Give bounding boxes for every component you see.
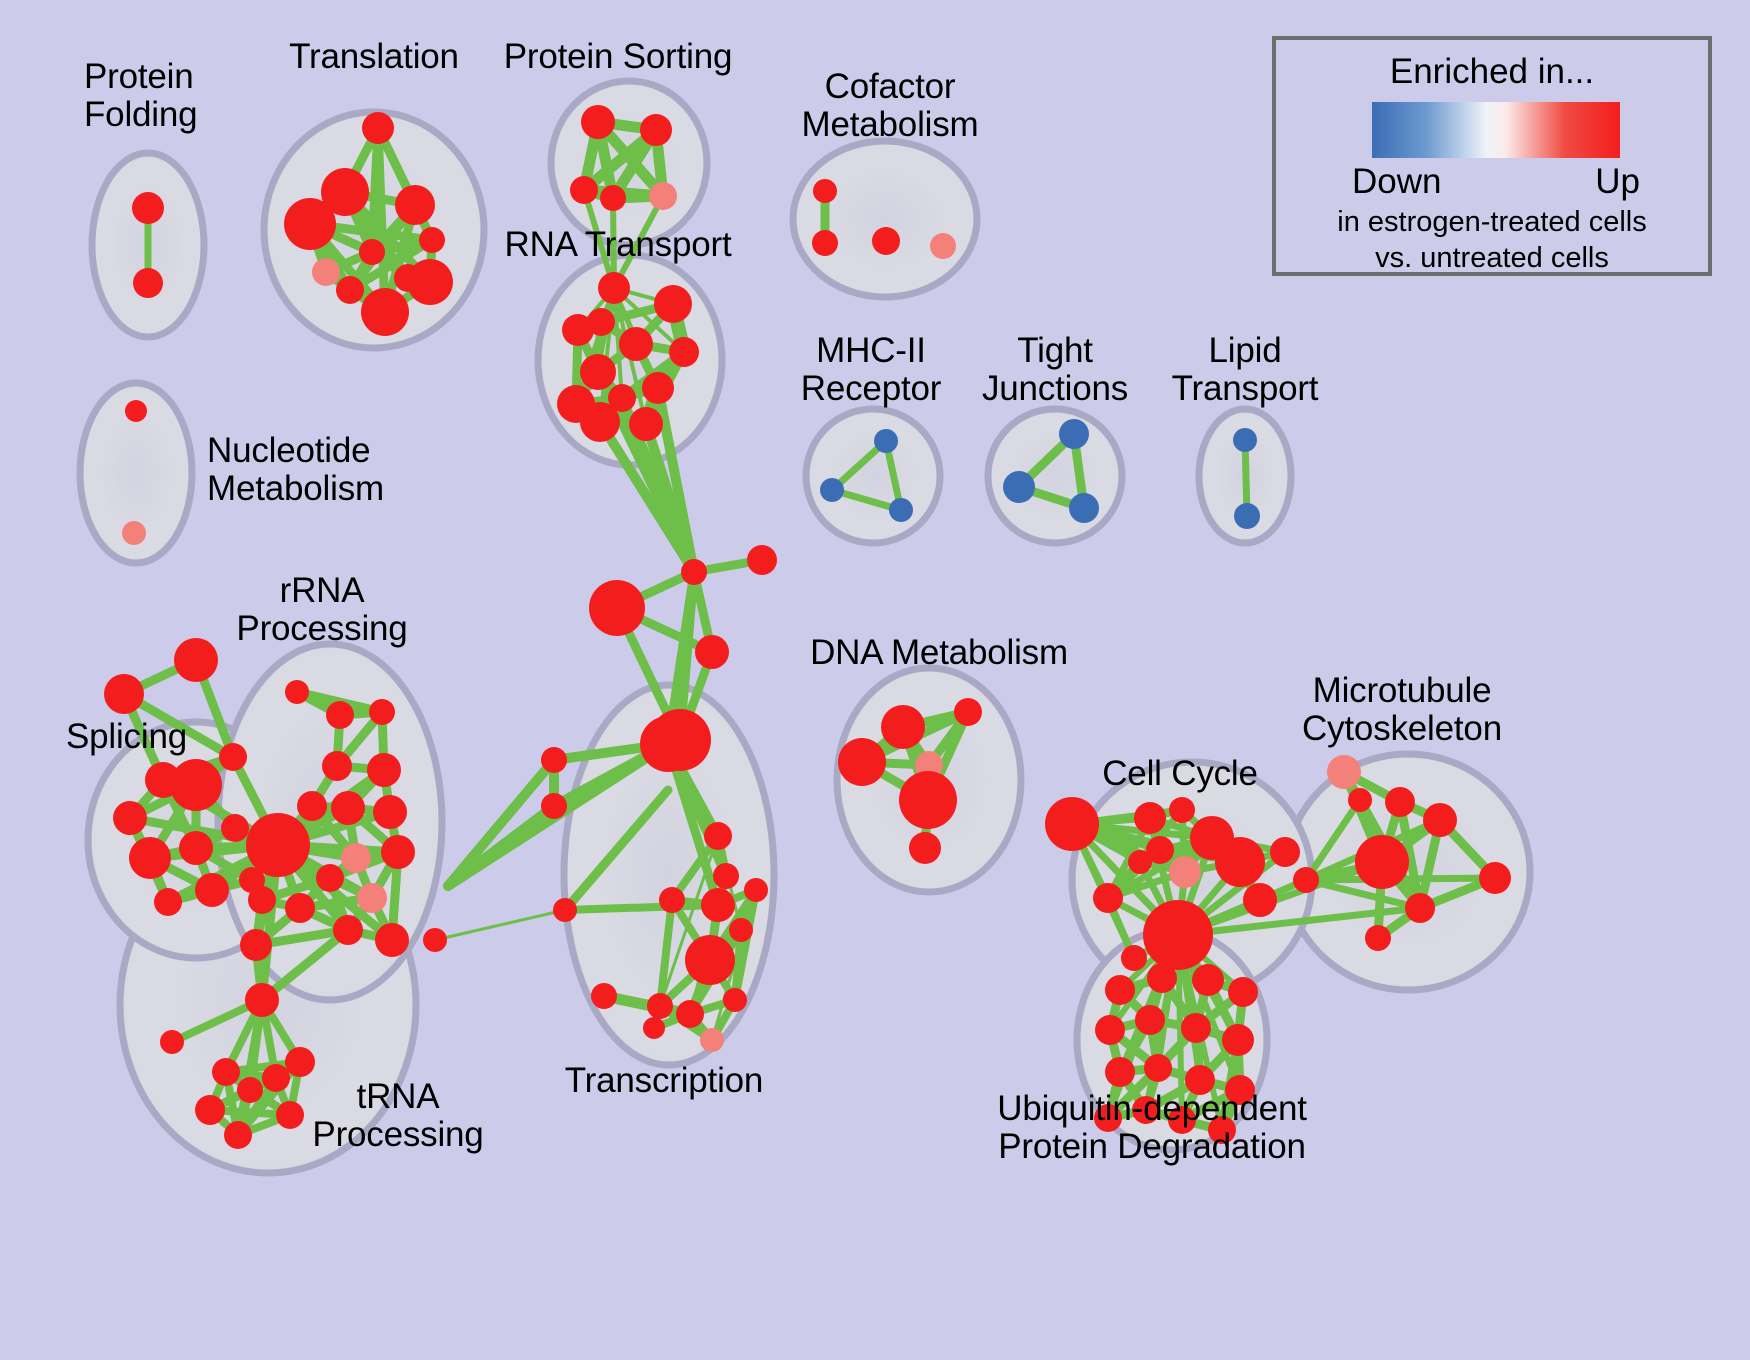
color-scale-bar: [1372, 102, 1620, 158]
label-rna-transport: RNA Transport: [505, 226, 732, 264]
legend-title: Enriched in...: [1276, 52, 1708, 92]
label-ubiquitin-protein-degradation: Ubiquitin-dependent Protein Degradation: [997, 1090, 1307, 1166]
label-tight-junctions: Tight Junctions: [982, 332, 1128, 408]
label-translation: Translation: [289, 38, 459, 76]
label-trna-processing: tRNA Processing: [312, 1078, 483, 1154]
label-protein-sorting: Protein Sorting: [504, 38, 733, 76]
legend-subtitle-line2: vs. untreated cells: [1276, 242, 1708, 275]
label-transcription: Transcription: [565, 1062, 763, 1100]
legend-box: Enriched in... Down Up in estrogen-treat…: [1272, 36, 1712, 276]
network-figure: Protein Folding Translation Protein Sort…: [0, 0, 1750, 1360]
label-rrna-processing: rRNA Processing: [236, 572, 407, 648]
legend-subtitle-line1: in estrogen-treated cells: [1276, 206, 1708, 239]
label-microtubule-cytoskeleton: Microtubule Cytoskeleton: [1302, 672, 1502, 748]
label-cofactor-metabolism: Cofactor Metabolism: [802, 68, 979, 144]
label-protein-folding: Protein Folding: [84, 58, 197, 134]
label-cell-cycle: Cell Cycle: [1102, 755, 1258, 793]
legend-up-label: Up: [1595, 162, 1640, 202]
legend-down-label: Down: [1352, 162, 1441, 202]
label-dna-metabolism: DNA Metabolism: [810, 634, 1068, 672]
label-mhc-ii-receptor: MHC-II Receptor: [801, 332, 941, 408]
label-splicing: Splicing: [66, 718, 187, 756]
label-lipid-transport: Lipid Transport: [1172, 332, 1319, 408]
hull-mhc-ii-receptor: [806, 409, 940, 543]
label-nucleotide-metabolism: Nucleotide Metabolism: [207, 432, 384, 508]
